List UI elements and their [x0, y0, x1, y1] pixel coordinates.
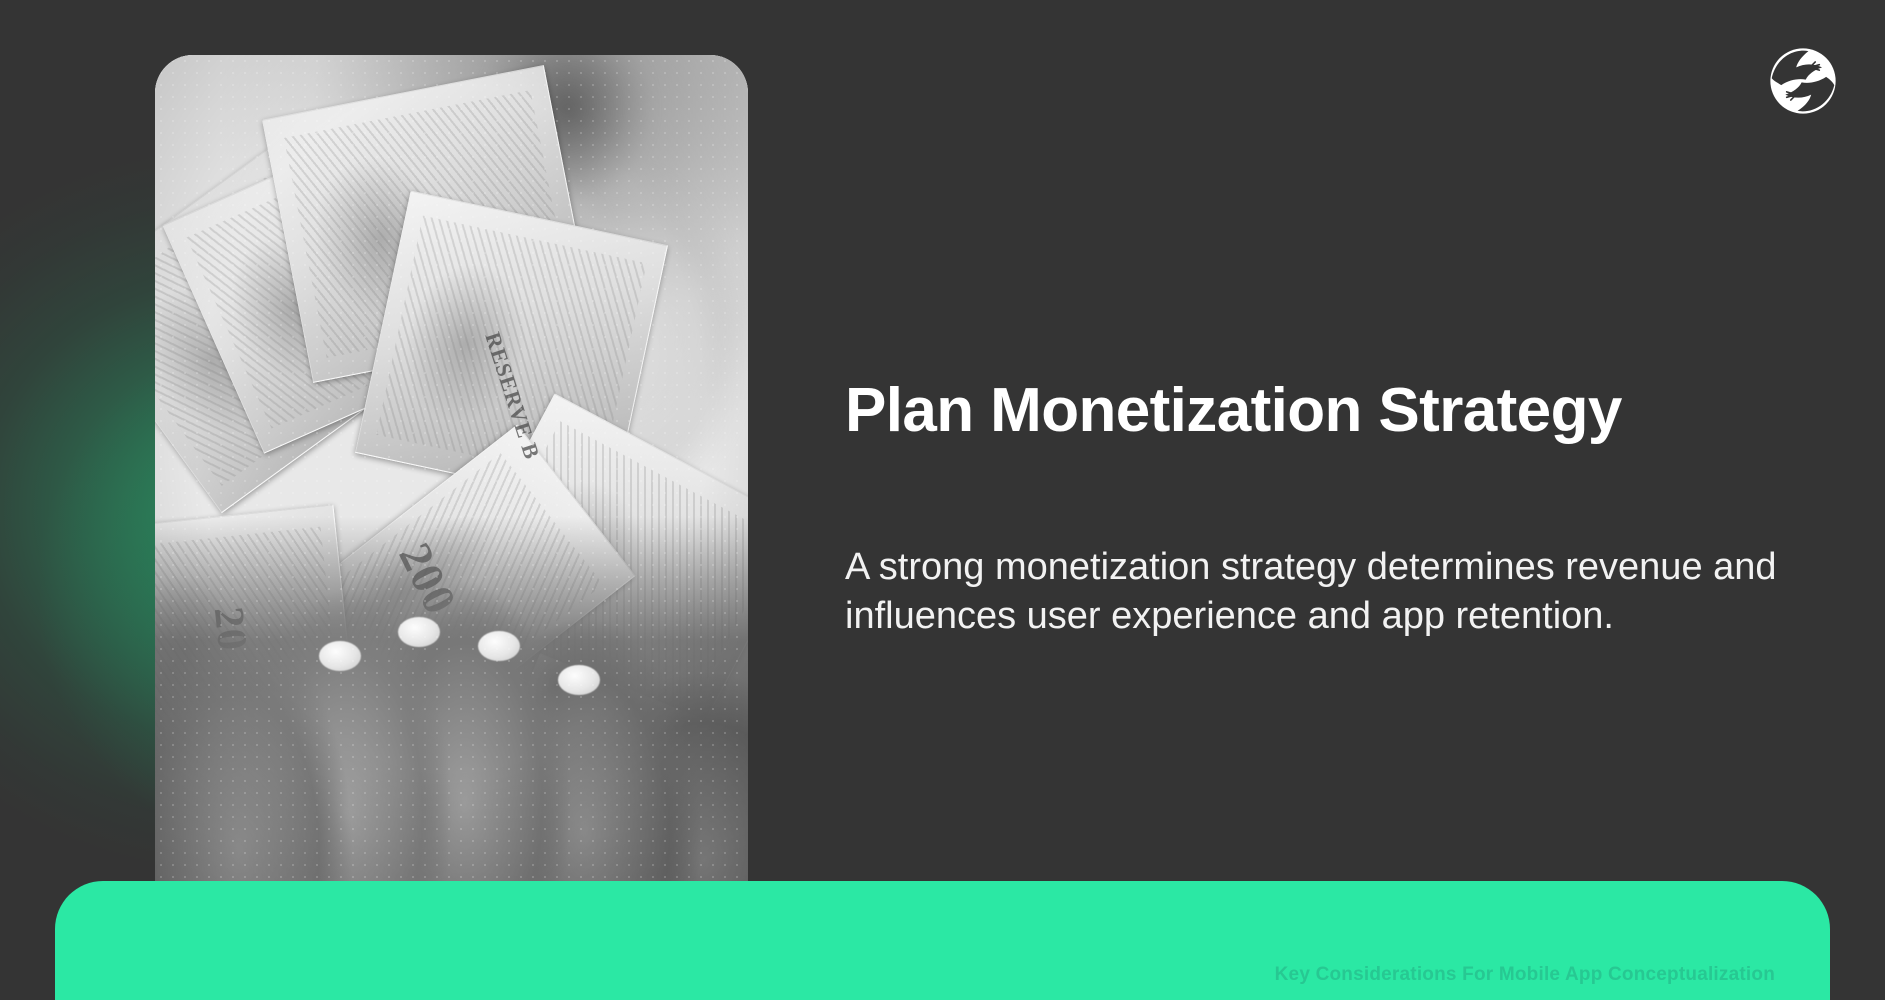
footer-caption: Key Considerations For Mobile App Concep… — [1275, 964, 1775, 986]
text-column: Plan Monetization Strategy A strong mone… — [845, 0, 1785, 881]
page-subcopy: A strong monetization strategy determine… — [845, 543, 1790, 640]
bird-mark-logo[interactable] — [1769, 47, 1837, 115]
slide-canvas: 20 200 RESERVE B RESERVE B Plan Monetiza… — [0, 0, 1885, 1000]
footer-bar: Key Considerations For Mobile App Concep… — [55, 881, 1830, 1000]
photo-halftone-overlay — [155, 55, 748, 942]
photo-panel: 20 200 RESERVE B RESERVE B — [155, 55, 748, 942]
page-title: Plan Monetization Strategy — [845, 378, 1622, 445]
